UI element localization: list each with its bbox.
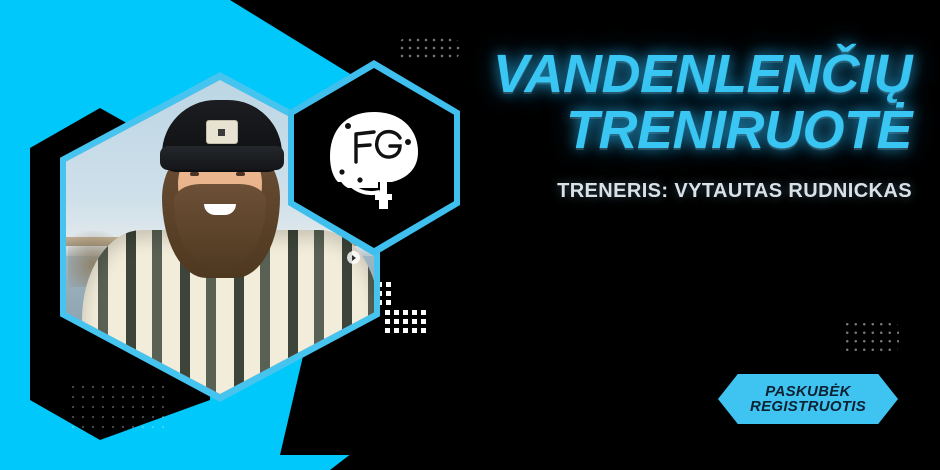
photo-beanie-tag <box>206 120 238 144</box>
helmet-icon <box>322 102 426 214</box>
cta-line-2: REGISTRUOTIS <box>750 399 866 414</box>
cta-line-1: PASKUBĖK <box>765 384 850 399</box>
page-title: VANDENLENČIŲ TRENIRUOTĖ <box>460 46 912 158</box>
dot-block-cluster-c <box>385 310 426 333</box>
photo-beanie-brim <box>160 146 284 170</box>
photo-eye-left <box>190 172 199 176</box>
play-icon <box>347 251 360 264</box>
photo-eye-right <box>236 172 245 176</box>
title-line-1: VANDENLENČIŲ <box>460 46 912 102</box>
title-line-2: TRENIRUOTĖ <box>460 102 912 158</box>
promo-poster: VANDENLENČIŲ TRENIRUOTĖ TRENERIS: VYTAUT… <box>0 0 940 470</box>
register-cta-badge[interactable]: PASKUBĖK REGISTRUOTIS <box>718 374 898 424</box>
coach-subtitle: TRENERIS: VYTAUTAS RUDNICKAS <box>460 180 912 203</box>
